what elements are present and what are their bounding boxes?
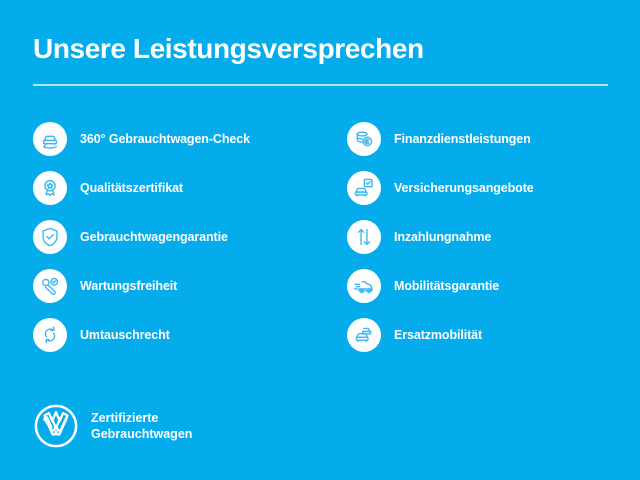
benefits-column-right: Finanzdienstleistungen Versicherungsange…: [320, 122, 640, 352]
page-title: Unsere Leistungsversprechen: [33, 33, 424, 65]
coins-euro-icon: [347, 122, 381, 156]
brand-text: Zertifizierte Gebrauchtwagen: [91, 410, 192, 443]
benefit-label: Finanzdienstleistungen: [394, 132, 531, 146]
car-360-check-icon: [33, 122, 67, 156]
benefit-item-exchange-right[interactable]: Umtauschrecht: [33, 318, 320, 352]
benefit-item-financial-services[interactable]: Finanzdienstleistungen: [347, 122, 640, 156]
benefit-item-trade-in[interactable]: Inzahlungnahme: [347, 220, 640, 254]
benefit-label: Mobilitätsgarantie: [394, 279, 499, 293]
benefit-item-quality-certificate[interactable]: Qualitätszertifikat: [33, 171, 320, 205]
benefit-item-mobility-guarantee[interactable]: Mobilitätsgarantie: [347, 269, 640, 303]
benefit-label: Wartungsfreiheit: [80, 279, 177, 293]
benefit-label: Versicherungsangebote: [394, 181, 534, 195]
benefit-label: Qualitätszertifikat: [80, 181, 183, 195]
volkswagen-logo: [33, 403, 79, 449]
wrench-check-icon: [33, 269, 67, 303]
car-document-icon: [347, 171, 381, 205]
benefit-label: 360° Gebrauchtwagen-Check: [80, 132, 250, 146]
brand-lockup: Zertifizierte Gebrauchtwagen: [33, 403, 192, 449]
benefits-grid: 360° Gebrauchtwagen-Check Qualitätszerti…: [0, 122, 640, 352]
two-cars-icon: [347, 318, 381, 352]
exchange-arrows-icon: [33, 318, 67, 352]
benefit-label: Gebrauchtwagengarantie: [80, 230, 228, 244]
header-divider: [33, 84, 608, 86]
benefit-item-warranty[interactable]: Gebrauchtwagengarantie: [33, 220, 320, 254]
benefits-column-left: 360° Gebrauchtwagen-Check Qualitätszerti…: [0, 122, 320, 352]
moving-car-icon: [347, 269, 381, 303]
benefit-label: Umtauschrecht: [80, 328, 170, 342]
award-rosette-icon: [33, 171, 67, 205]
benefit-item-360-check[interactable]: 360° Gebrauchtwagen-Check: [33, 122, 320, 156]
benefit-label: Ersatzmobilität: [394, 328, 482, 342]
promise-panel: Unsere Leistungsversprechen 360° Gebrauc…: [0, 0, 640, 480]
benefit-item-insurance-offers[interactable]: Versicherungsangebote: [347, 171, 640, 205]
up-down-arrows-icon: [347, 220, 381, 254]
benefit-item-replacement-mobility[interactable]: Ersatzmobilität: [347, 318, 640, 352]
shield-check-icon: [33, 220, 67, 254]
benefit-item-maintenance-free[interactable]: Wartungsfreiheit: [33, 269, 320, 303]
benefit-label: Inzahlungnahme: [394, 230, 491, 244]
